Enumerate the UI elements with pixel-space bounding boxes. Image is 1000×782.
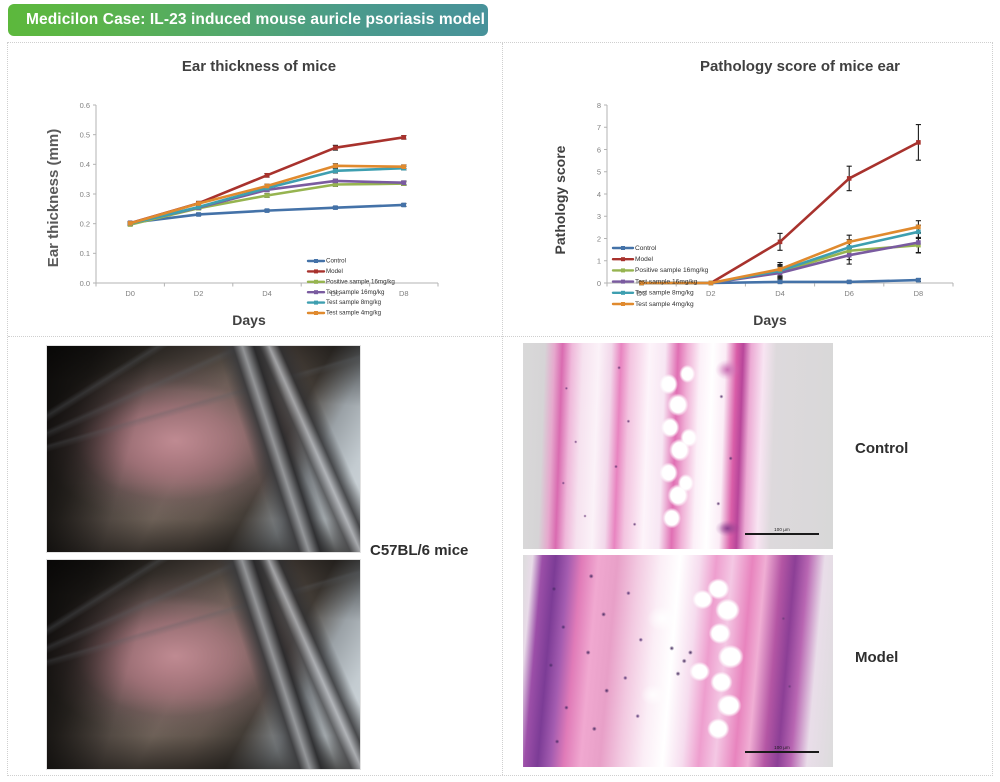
chart-panel-ear-thickness: Ear thickness of mice0.00.10.20.30.40.50…: [8, 43, 502, 336]
svg-text:8: 8: [597, 101, 601, 110]
svg-text:7: 7: [597, 123, 601, 132]
svg-text:D2: D2: [194, 289, 204, 298]
histology-image-model: 100 µm: [523, 555, 833, 767]
svg-text:Pathology score: Pathology score: [552, 145, 568, 254]
svg-text:0.5: 0.5: [80, 130, 90, 139]
histology-label-model: Model: [855, 649, 898, 666]
svg-text:Test sample 16mg/kg: Test sample 16mg/kg: [326, 289, 385, 296]
svg-text:Test sample 4mg/kg: Test sample 4mg/kg: [635, 301, 694, 308]
svg-text:D4: D4: [775, 289, 785, 298]
svg-text:Control: Control: [326, 258, 346, 265]
he-stained-section: [523, 555, 833, 767]
svg-text:0.1: 0.1: [80, 249, 90, 258]
svg-text:Model: Model: [635, 256, 653, 263]
he-stained-section: [523, 343, 833, 549]
svg-text:Days: Days: [232, 312, 266, 328]
chart-panel-pathology-score: Pathology score of mice ear012345678D0D2…: [503, 43, 994, 336]
svg-text:Model: Model: [326, 268, 343, 275]
scale-bar-label: 100 µm: [774, 527, 790, 532]
svg-text:Ear thickness (mm): Ear thickness (mm): [45, 129, 62, 267]
scale-bar-line: [745, 533, 819, 535]
svg-text:0.0: 0.0: [80, 279, 90, 288]
svg-text:Positive sample 16mg/kg: Positive sample 16mg/kg: [635, 267, 709, 274]
svg-text:Days: Days: [753, 312, 787, 328]
svg-text:0: 0: [597, 279, 601, 288]
svg-text:1: 1: [597, 257, 601, 266]
svg-text:0.3: 0.3: [80, 190, 90, 199]
svg-text:Test sample 8mg/kg: Test sample 8mg/kg: [635, 290, 694, 297]
svg-text:4: 4: [597, 190, 601, 199]
svg-text:5: 5: [597, 168, 601, 177]
svg-text:Test sample 16mg/kg: Test sample 16mg/kg: [635, 278, 698, 285]
title-banner: Medicilon Case: IL-23 induced mouse auri…: [8, 4, 488, 36]
svg-text:3: 3: [597, 212, 601, 221]
page-title: Medicilon Case: IL-23 induced mouse auri…: [26, 11, 485, 29]
svg-text:0.2: 0.2: [80, 219, 90, 228]
mouse-ear-image: [47, 560, 360, 769]
mouse-strain-label: C57BL/6 mice: [370, 542, 468, 559]
mouse-ear-image: [47, 346, 360, 552]
mouse-ear-photo-bottom: [46, 559, 361, 770]
svg-text:D8: D8: [914, 289, 924, 298]
ear-thickness-chart: Ear thickness of mice0.00.10.20.30.40.50…: [8, 43, 502, 336]
svg-text:D6: D6: [844, 289, 854, 298]
histology-label-control: Control: [855, 440, 908, 457]
svg-text:Test sample 8mg/kg: Test sample 8mg/kg: [326, 299, 382, 306]
svg-text:Test sample 4mg/kg: Test sample 4mg/kg: [326, 310, 382, 317]
figure-frame: Ear thickness of mice0.00.10.20.30.40.50…: [7, 42, 993, 776]
svg-text:0.6: 0.6: [80, 101, 90, 110]
mouse-ear-photo-top: [46, 345, 361, 553]
svg-text:Positive sample 16mg/kg: Positive sample 16mg/kg: [326, 278, 395, 285]
svg-text:D0: D0: [125, 289, 135, 298]
scale-bar-control: 100 µm: [745, 533, 819, 535]
svg-text:D4: D4: [262, 289, 272, 298]
scale-bar-line: [745, 751, 819, 753]
scale-bar-label: 100 µm: [774, 745, 790, 750]
svg-text:D8: D8: [399, 289, 409, 298]
svg-text:Control: Control: [635, 245, 657, 252]
svg-text:Pathology score of mice ear: Pathology score of mice ear: [700, 58, 900, 75]
histology-panel: 100 µm 100 µm Control Model: [503, 337, 994, 777]
svg-text:0.4: 0.4: [80, 160, 90, 169]
scale-bar-model: 100 µm: [745, 751, 819, 753]
pathology-score-chart: Pathology score of mice ear012345678D0D2…: [503, 43, 994, 336]
svg-text:D2: D2: [706, 289, 716, 298]
svg-text:6: 6: [597, 145, 601, 154]
svg-text:Ear thickness of mice: Ear thickness of mice: [182, 58, 336, 75]
mouse-photo-panel: C57BL/6 mice: [8, 337, 502, 777]
histology-image-control: 100 µm: [523, 343, 833, 549]
svg-text:2: 2: [597, 234, 601, 243]
